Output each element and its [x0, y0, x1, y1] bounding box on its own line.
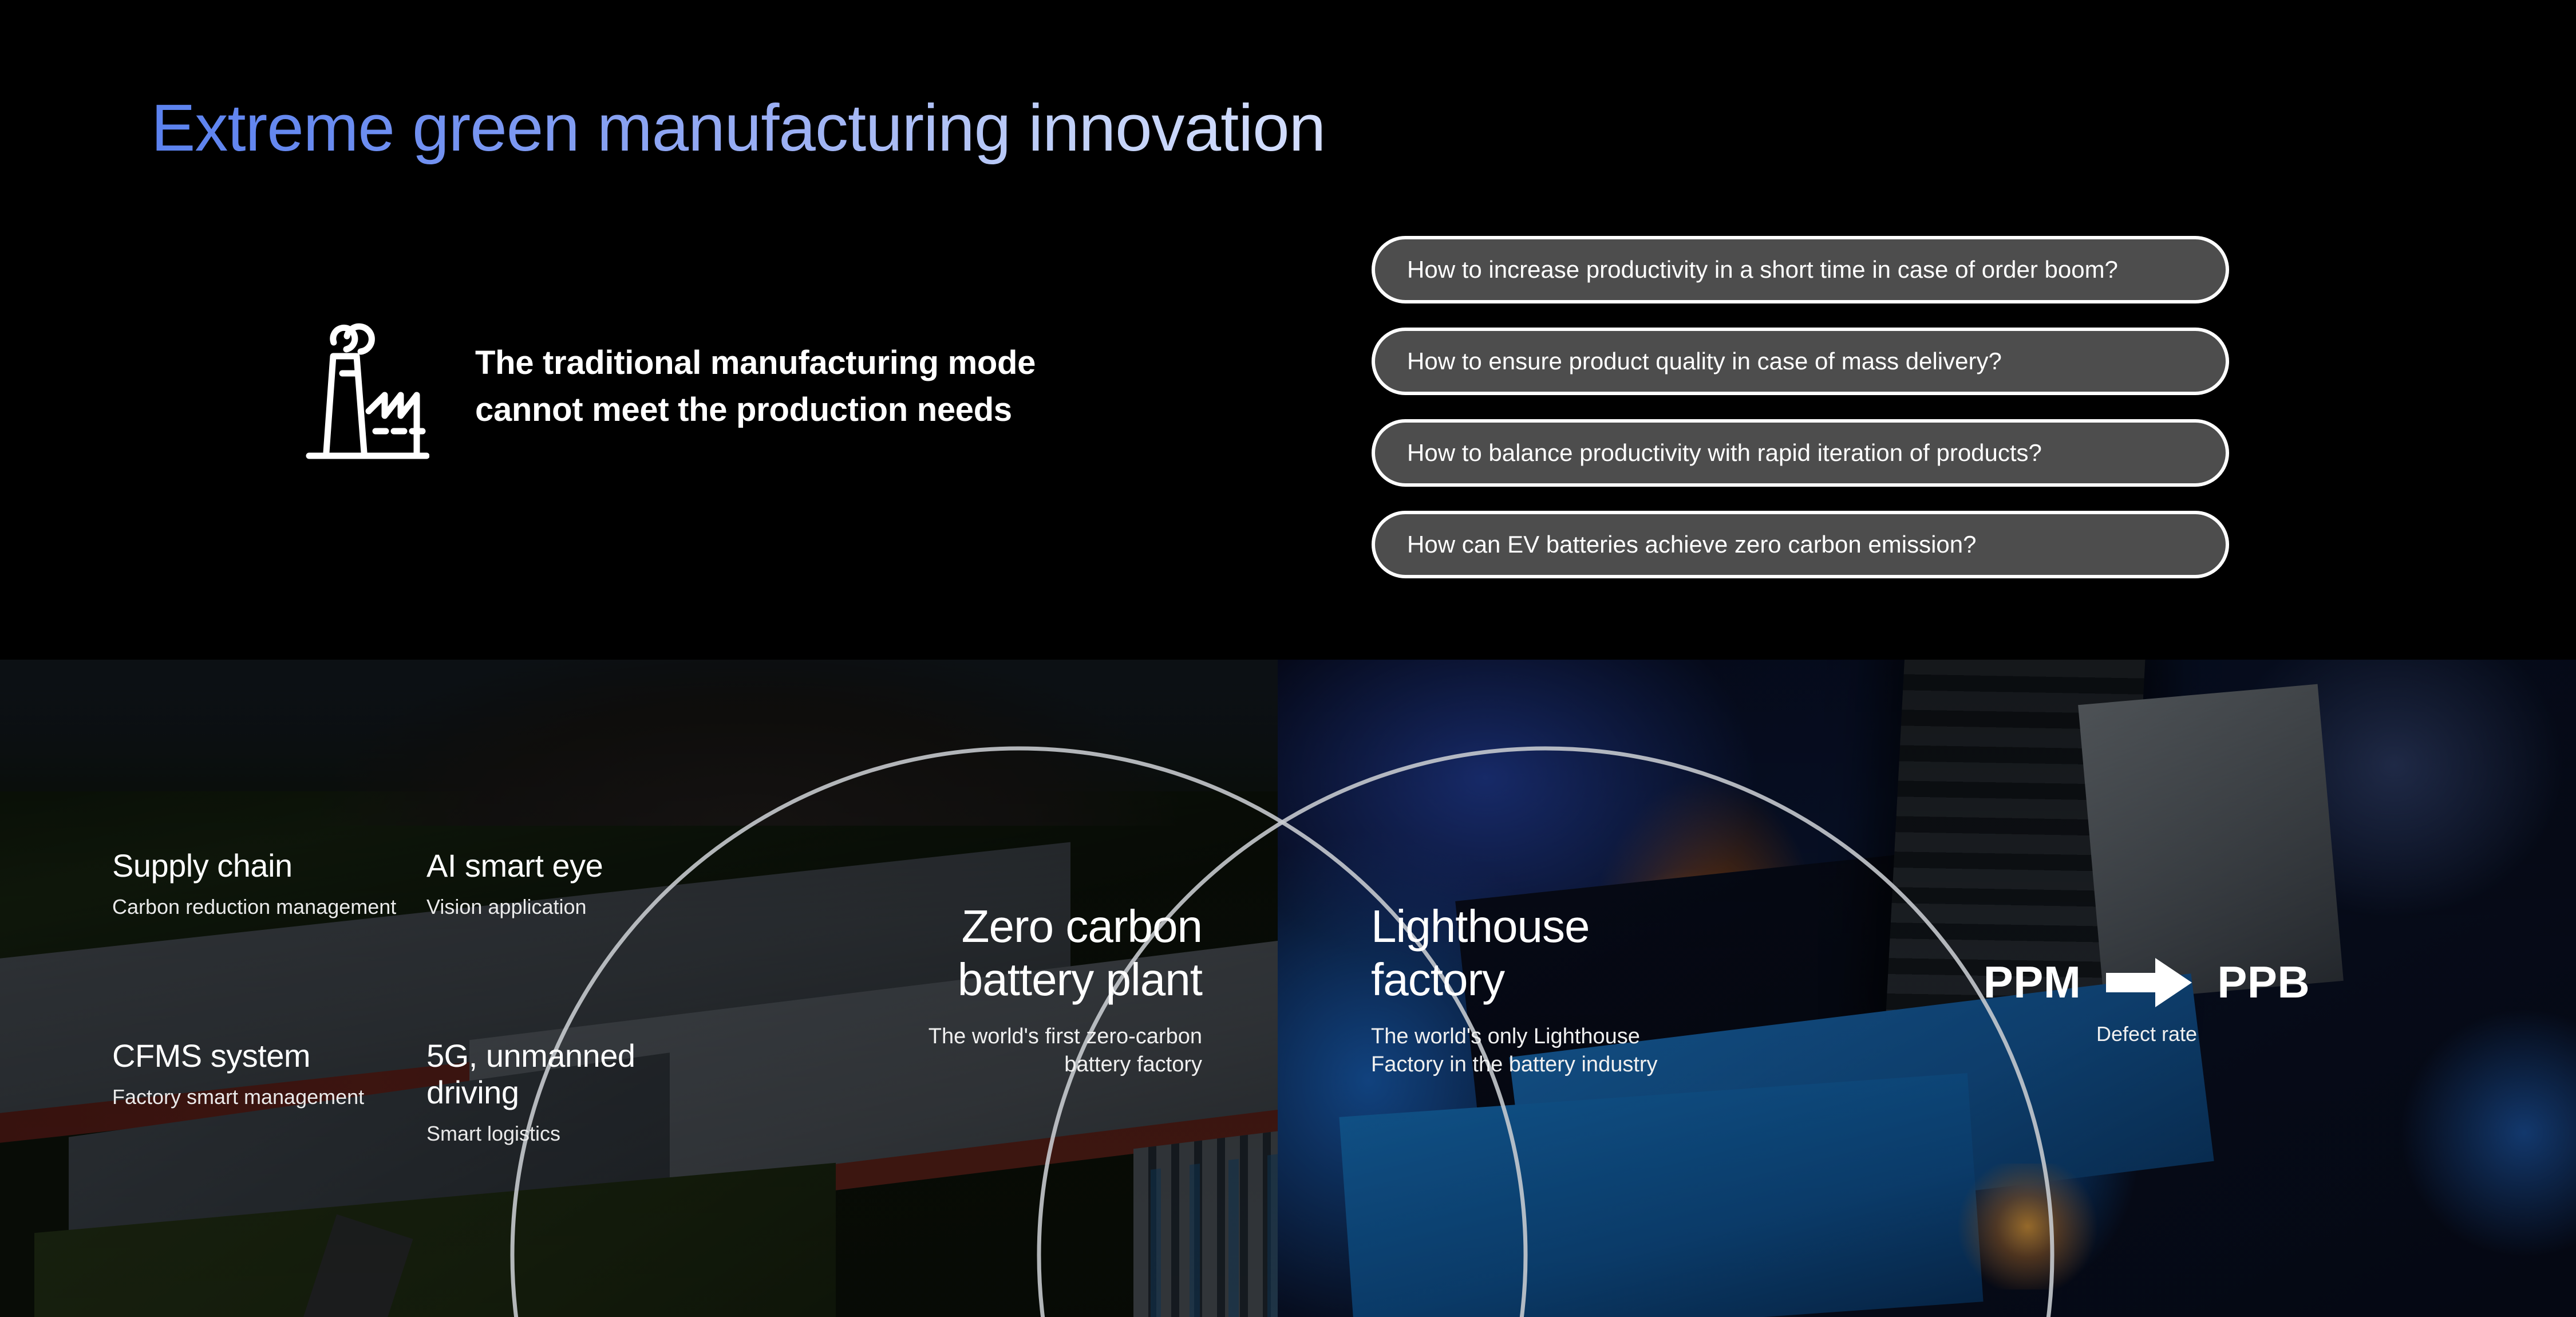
highlight-zero-carbon-battery-plant: Zero carbon battery plant The world's fi…	[664, 900, 1202, 1079]
highlight-subtitle-line-2: battery factory	[664, 1051, 1202, 1079]
question-pill-4[interactable]: How can EV batteries achieve zero carbon…	[1372, 511, 2229, 578]
page-title: Extreme green manufacturing innovation	[151, 92, 1325, 165]
feature-title: Supply chain	[112, 847, 396, 884]
traditional-manufacturing-statement: The traditional manufacturing mode canno…	[298, 309, 1036, 464]
statement-line-1: The traditional manufacturing mode	[475, 340, 1036, 387]
top-black-section: Extreme green manufacturing innovation T…	[0, 0, 2576, 660]
question-pill-3[interactable]: How to balance productivity with rapid i…	[1372, 419, 2229, 487]
feature-title: 5G, unmanned driving	[426, 1038, 696, 1111]
highlight-title-line-2: battery plant	[664, 953, 1202, 1007]
feature-5g-unmanned-driving: 5G, unmanned driving Smart logistics	[426, 1038, 696, 1146]
highlight-subtitle-line-1: The world's only Lighthouse	[1371, 1023, 1886, 1051]
highlight-subtitle-line-1: The world's first zero-carbon	[664, 1023, 1202, 1051]
statement-text: The traditional manufacturing mode canno…	[475, 340, 1036, 434]
feature-ai-smart-eye: AI smart eye Vision application	[426, 847, 603, 920]
highlight-title-line-1: Zero carbon	[664, 900, 1202, 953]
highlight-title-line-2: factory	[1371, 953, 1886, 1007]
question-list: How to increase productivity in a short …	[1372, 236, 2229, 578]
question-pill-2[interactable]: How to ensure product quality in case of…	[1372, 328, 2229, 395]
feature-subtitle: Smart logistics	[426, 1121, 696, 1147]
highlight-lighthouse-factory: Lighthouse factory The world's only Ligh…	[1371, 900, 1886, 1079]
factory-icon	[298, 309, 429, 464]
highlight-title-line-1: Lighthouse	[1371, 900, 1886, 953]
defect-unit-to: PPB	[2217, 956, 2310, 1008]
arrow-right-icon	[2106, 958, 2192, 1007]
feature-subtitle: Factory smart management	[112, 1085, 364, 1110]
defect-rate-caption: Defect rate	[1929, 1022, 2364, 1046]
feature-cfms-system: CFMS system Factory smart management	[112, 1038, 364, 1110]
question-pill-1[interactable]: How to increase productivity in a short …	[1372, 236, 2229, 303]
defect-rate-block: PPM PPB Defect rate	[1929, 956, 2364, 1046]
statement-line-2: cannot meet the production needs	[475, 387, 1036, 433]
feature-title: AI smart eye	[426, 847, 603, 884]
highlight-subtitle-line-2: Factory in the battery industry	[1371, 1051, 1886, 1079]
defect-rate-row: PPM PPB	[1929, 956, 2364, 1008]
feature-subtitle: Vision application	[426, 894, 603, 920]
feature-title: CFMS system	[112, 1038, 364, 1074]
feature-subtitle: Carbon reduction management	[112, 894, 396, 920]
defect-unit-from: PPM	[1984, 956, 2081, 1008]
feature-supply-chain: Supply chain Carbon reduction management	[112, 847, 396, 920]
